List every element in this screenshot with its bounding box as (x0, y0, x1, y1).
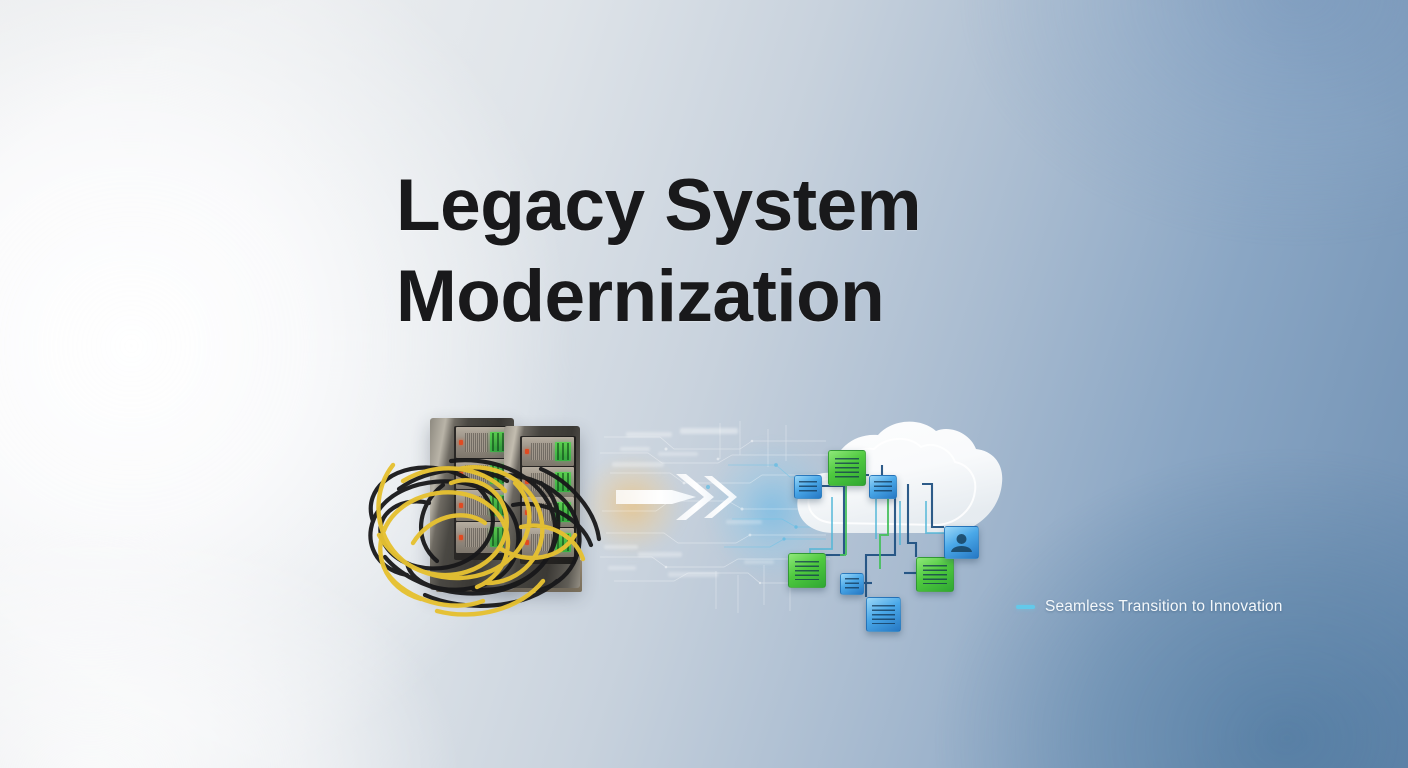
slide-canvas: Legacy System Modernization (0, 0, 1408, 768)
page-title: Legacy System Modernization (396, 160, 1176, 342)
caption: Seamless Transition to Innovation (1016, 598, 1283, 616)
title-line-1: Legacy System (396, 160, 1176, 251)
caption-text: Seamless Transition to Innovation (1045, 598, 1283, 616)
caption-dash-icon (1016, 605, 1035, 609)
title-line-2: Modernization (396, 251, 1176, 342)
background-vignette (0, 0, 1408, 768)
